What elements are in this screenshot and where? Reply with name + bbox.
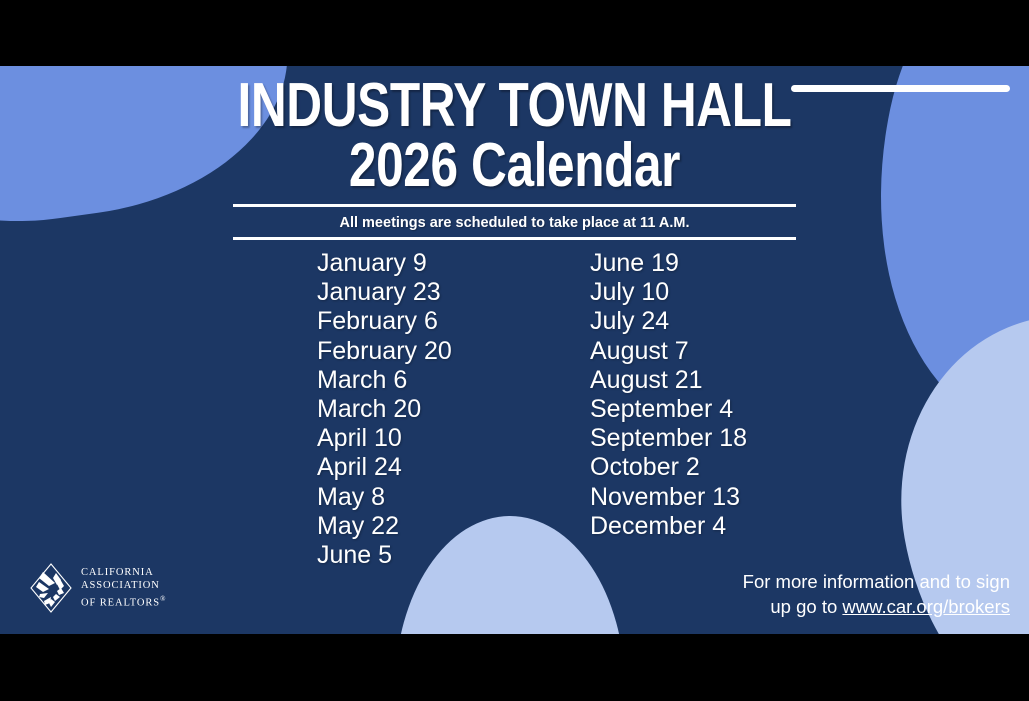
page-title-line-2: 2026 Calendar	[103, 136, 926, 196]
meeting-date-item: November 13	[590, 483, 890, 512]
meeting-date-item: May 22	[317, 512, 590, 541]
meeting-date-item: March 20	[317, 395, 590, 424]
meeting-dates-column-right: June 19 July 10 July 24 August 7 August …	[590, 249, 890, 570]
meeting-date-item: October 2	[590, 453, 890, 482]
meeting-date-item: March 6	[317, 366, 590, 395]
meeting-dates-container: January 9 January 23 February 6 February…	[0, 249, 1029, 570]
meeting-date-item: September 4	[590, 395, 890, 424]
car-logo-line-3: OF REALTORS®	[81, 593, 166, 610]
meeting-date-item: August 7	[590, 337, 890, 366]
letterbox-bar-top	[0, 0, 1029, 66]
meeting-date-item: July 10	[590, 278, 890, 307]
meeting-date-item: April 10	[317, 424, 590, 453]
car-logo: CALIFORNIA ASSOCIATION OF REALTORS®	[30, 563, 166, 613]
meeting-date-item: December 4	[590, 512, 890, 541]
subtitle-text: All meetings are scheduled to take place…	[233, 207, 796, 237]
car-logo-line-3-text: OF REALTORS	[81, 598, 160, 609]
meeting-date-item: September 18	[590, 424, 890, 453]
letterbox-bar-bottom	[0, 634, 1029, 701]
meeting-date-item: February 6	[317, 307, 590, 336]
car-logo-line-1: CALIFORNIA	[81, 566, 166, 580]
car-logo-text: CALIFORNIA ASSOCIATION OF REALTORS®	[81, 566, 166, 610]
footer-text-line-2-prefix: up go to	[770, 596, 842, 617]
subtitle-rule-bottom	[233, 237, 796, 240]
car-diamond-emblem-icon	[30, 563, 72, 613]
footer-info: For more information and to sign up go t…	[629, 569, 1010, 619]
meeting-date-item: June 5	[317, 541, 590, 570]
meeting-date-item: January 23	[317, 278, 590, 307]
subtitle-block: All meetings are scheduled to take place…	[233, 204, 796, 240]
car-logo-line-2: ASSOCIATION	[81, 579, 166, 593]
meeting-date-item: May 8	[317, 483, 590, 512]
meeting-date-item: January 9	[317, 249, 590, 278]
meeting-date-item: February 20	[317, 337, 590, 366]
footer-url-link[interactable]: www.car.org/brokers	[842, 596, 1010, 617]
page-title-line-1: INDUSTRY TOWN HALL	[103, 76, 926, 136]
meeting-date-item: June 19	[590, 249, 890, 278]
footer-text-line-1: For more information and to sign	[743, 571, 1010, 592]
title-block: INDUSTRY TOWN HALL 2026 Calendar	[0, 76, 1029, 195]
meeting-date-item: July 24	[590, 307, 890, 336]
slide-screenshot: INDUSTRY TOWN HALL 2026 Calendar All mee…	[0, 0, 1029, 701]
meeting-date-item: April 24	[317, 453, 590, 482]
meeting-date-item: August 21	[590, 366, 890, 395]
registered-trademark-mark: ®	[160, 595, 166, 603]
meeting-dates-column-left: January 9 January 23 February 6 February…	[317, 249, 590, 570]
slide-canvas: INDUSTRY TOWN HALL 2026 Calendar All mee…	[0, 66, 1029, 634]
